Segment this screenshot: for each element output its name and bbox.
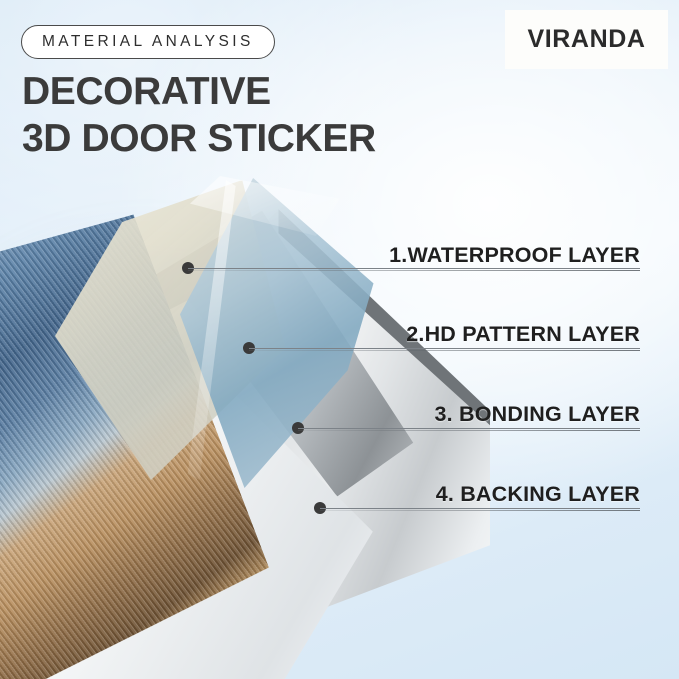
layer-label-2: 2.HD PATTERN LAYER — [406, 322, 640, 347]
brand-name: VIRANDA — [527, 25, 645, 54]
page-title: DECORATIVE 3D DOOR STICKER — [22, 68, 376, 162]
layer-label-underline-4 — [320, 510, 640, 511]
infographic-canvas: 1.WATERPROOF LAYER2.HD PATTERN LAYER3. B… — [0, 0, 679, 679]
callout-leader-line-4 — [320, 508, 640, 509]
callout-leader-line-3 — [298, 428, 640, 429]
sticker-cross-section-illustration — [0, 150, 470, 679]
layer-label-underline-3 — [298, 430, 640, 431]
layer-label-4: 4. BACKING LAYER — [436, 482, 640, 507]
brand-logo-box: VIRANDA — [505, 10, 668, 69]
layer-label-1: 1.WATERPROOF LAYER — [389, 243, 640, 268]
badge-label: MATERIAL ANALYSIS — [42, 33, 254, 51]
layer-label-3: 3. BONDING LAYER — [435, 402, 641, 427]
callout-leader-line-1 — [188, 268, 640, 269]
callout-leader-line-2 — [249, 348, 640, 349]
material-analysis-badge: MATERIAL ANALYSIS — [21, 25, 275, 59]
headline-line-1: DECORATIVE — [22, 68, 376, 115]
headline-line-2: 3D DOOR STICKER — [22, 115, 376, 162]
layer-label-underline-2 — [249, 350, 640, 351]
layer-label-underline-1 — [188, 270, 640, 271]
